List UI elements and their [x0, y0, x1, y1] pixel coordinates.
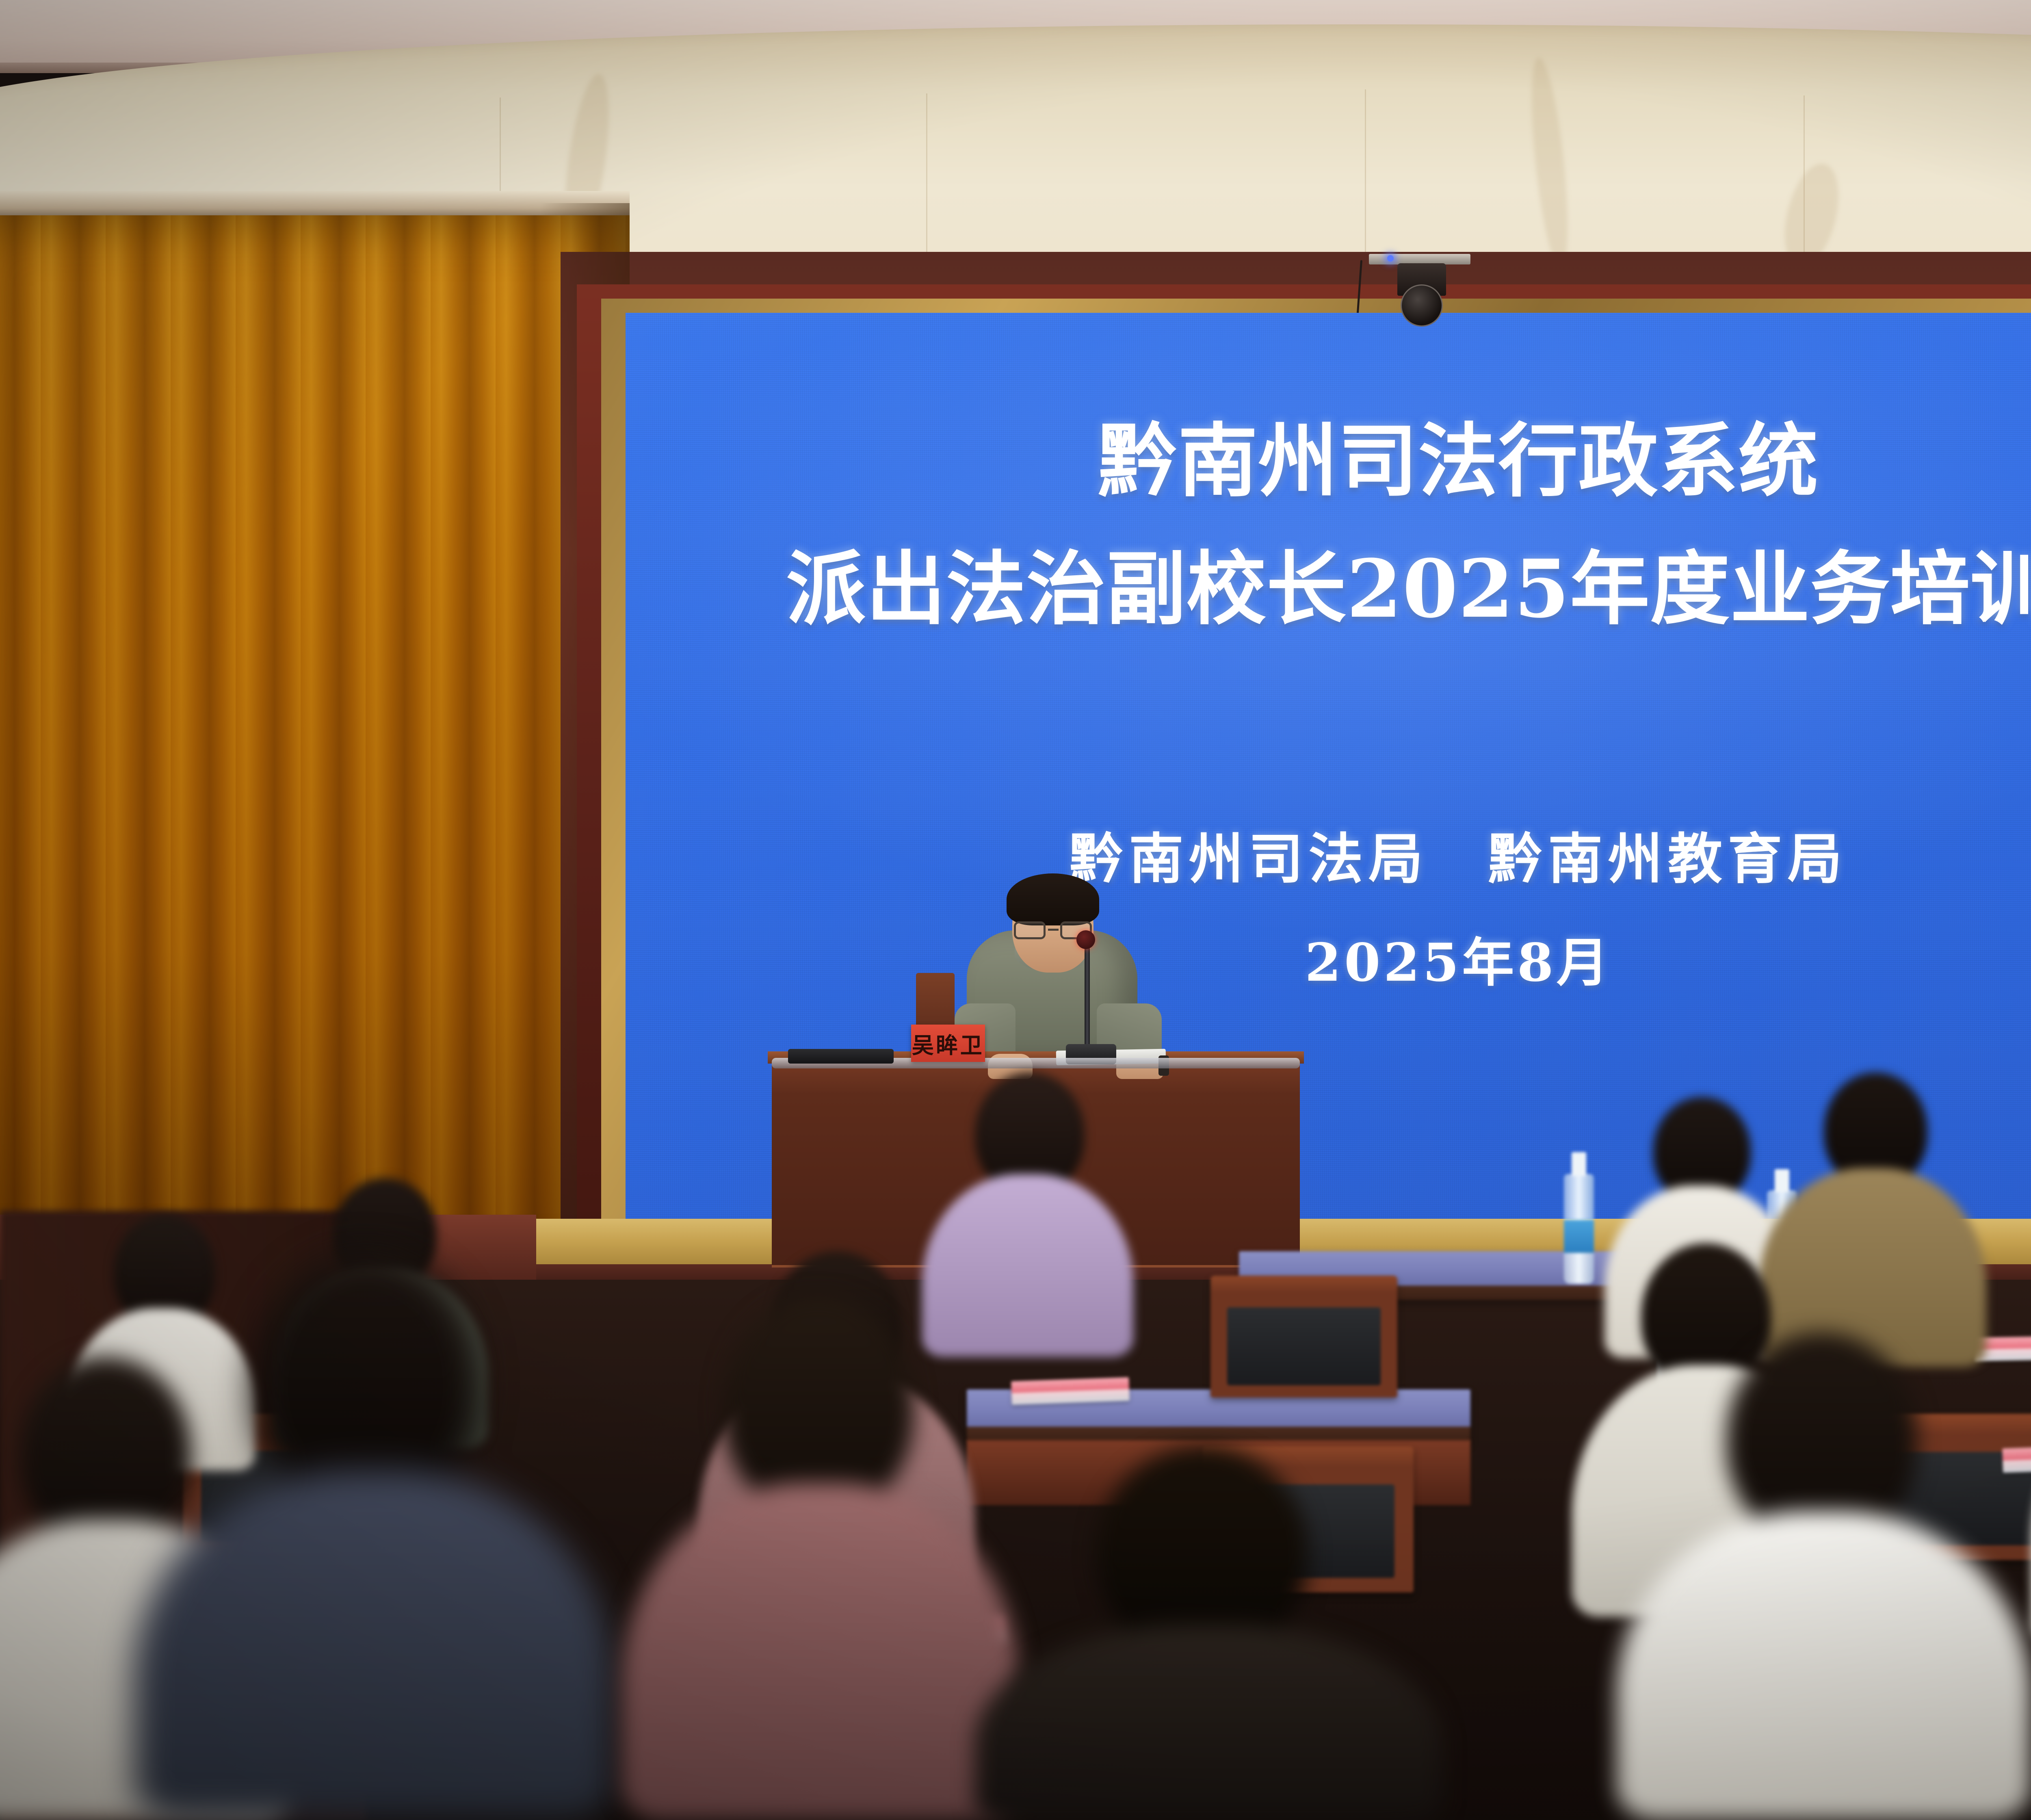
desk-power-strip [788, 1049, 894, 1064]
conference-hall-photo: 黔南州司法行政系统 派出法治副校长2025年度业务培训会 黔南州司法局 黔南州教… [0, 0, 2031, 1820]
slide-title: 黔南州司法行政系统 派出法治副校长2025年度业务培训会 [786, 410, 2031, 640]
speaker-nameplate: 吴眸卫 [911, 1025, 985, 1062]
audience-member [134, 1251, 613, 1820]
speaker-hair [1007, 873, 1099, 925]
camera-lens-icon [1401, 284, 1443, 327]
stage-curtain-left [0, 203, 630, 1243]
slide-date: 2025年8月 [1305, 921, 1611, 996]
speaker-nameplate-label: 吴眸卫 [912, 1027, 984, 1059]
audience-torso [1617, 1511, 2031, 1820]
microphone-icon [1076, 930, 1095, 949]
curtain-rail-left [0, 191, 630, 215]
microphone-stem [1085, 938, 1090, 1048]
camera-status-led [1387, 255, 1394, 262]
slide-title-line-2: 派出法治副校长2025年度业务培训会 [786, 538, 2031, 640]
audience-member [621, 1296, 1020, 1820]
audience-chair [1210, 1276, 1397, 1397]
slide-title-line-1: 黔南州司法行政系统 [786, 410, 2031, 512]
audience-member [1617, 1332, 2031, 1820]
slide-organizers: 黔南州司法局 黔南州教育局 [1069, 815, 1847, 894]
audience-head [723, 1296, 914, 1515]
training-booklet [1011, 1377, 1130, 1405]
audience-torso [134, 1471, 613, 1820]
audience-member [975, 1446, 1442, 1820]
audience-torso [975, 1625, 1442, 1820]
audience-torso [621, 1483, 1020, 1820]
